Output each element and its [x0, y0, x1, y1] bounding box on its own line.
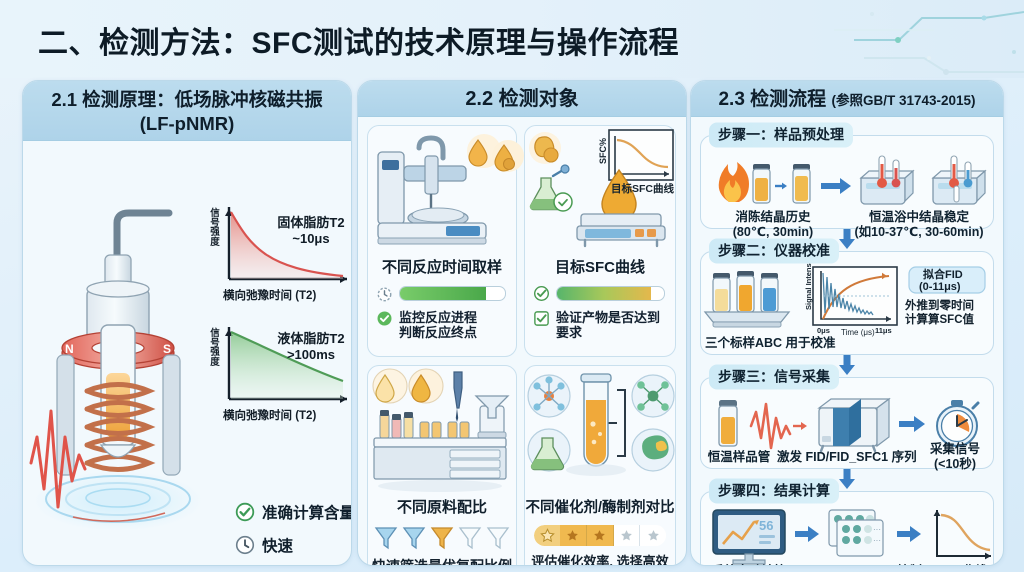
- funnel-rating: [368, 525, 516, 551]
- panel3-title-note: (参照GB/T 31743-2015): [831, 93, 975, 108]
- plot-solid-ylabel: 信号强度: [207, 209, 223, 248]
- step-1-chip: 步骤一：样品预处理: [709, 123, 853, 148]
- svg-text:计算算SFC值: 计算算SFC值: [905, 312, 974, 326]
- card-material-ratio-title: 不同原料配比: [368, 496, 516, 517]
- funnel-icon-empty: [486, 525, 510, 551]
- panel2-title: 2.2 检测对象: [465, 88, 578, 110]
- card-sampling[interactable]: 不同反应时间取样 监控反应进程 判断反应终点: [367, 125, 517, 357]
- flow-arrow-2: [838, 355, 856, 375]
- step-3[interactable]: 步骤三：信号采集: [700, 377, 994, 469]
- card-catalyst[interactable]: 不同催化剂/酶制剂对比 评估催化效率, 选择高效体系: [524, 365, 676, 566]
- funnel-icon-filled: [402, 525, 426, 551]
- star-icon-filled: [560, 525, 587, 546]
- catalyst-caption: 评估催化效率, 选择高效体系: [525, 554, 675, 566]
- step-2-illustration: Signal Intensity 0μs Time (μs) 11μs 拟合FI…: [701, 265, 995, 339]
- card-catalyst-title: 不同催化剂/酶制剂对比: [525, 496, 675, 517]
- target-sfc-status: 验证产物是否达到要求: [533, 310, 667, 341]
- plot-solid-fat: 信号强度 横向弛豫时间 (T2) 固体脂肪T2 ~10μs: [209, 203, 352, 309]
- star-icon-empty: [614, 525, 641, 546]
- panel1-title-line1: 2.1 检测原理：低场脉冲核磁共振: [31, 88, 343, 112]
- step-4-caption-3: 绘制 SFC-T曲线 (评估产物塑性): [889, 564, 995, 566]
- sampling-status-line2: 判断反应终点: [399, 325, 477, 340]
- check-circle-outline-icon: [533, 285, 550, 302]
- progress-bar-target-sfc: [556, 286, 665, 301]
- card-material-ratio[interactable]: 不同原料配比 快速筛选最优复配比例: [367, 365, 517, 566]
- progress-fill: [557, 287, 651, 300]
- stopwatch-icon: [376, 285, 393, 302]
- funnel-icon-filled: [430, 525, 454, 551]
- progress-bar-sampling: [399, 286, 506, 301]
- clock-icon: [235, 535, 255, 555]
- feature-label: 准确计算含量: [262, 501, 352, 523]
- star-rating: [534, 525, 666, 546]
- step-1-caption-2: 恒温浴中结晶稳定 (如10-37℃, 30-60min): [849, 210, 989, 240]
- step-4[interactable]: 步骤四：结果计算 56 ···: [700, 491, 994, 566]
- step-1-caption-1: 消陈结晶历史 (80℃, 30min): [719, 210, 827, 240]
- check-circle-filled-icon: [376, 310, 393, 327]
- robot-dispenser-icon: [368, 126, 518, 254]
- check-circle-icon: [235, 502, 255, 522]
- panel-detection-principle: 2.1 检测原理：低场脉冲核磁共振 (LF-pNMR): [22, 80, 352, 566]
- panel3-header: 2.3 检测流程 (参照GB/T 31743-2015): [691, 81, 1003, 117]
- material-ratio-caption: 快速筛选最优复配比例: [368, 558, 516, 566]
- step-2[interactable]: 步骤二：仪器校准: [700, 251, 994, 355]
- svg-text:(0-11μs): (0-11μs): [919, 281, 961, 293]
- step-3-chip: 步骤三：信号采集: [709, 365, 839, 390]
- plot-solid-note: 固体脂肪T2 ~10μs: [269, 215, 352, 246]
- star-icon-filled: [587, 525, 614, 546]
- flow-arrow-1: [838, 229, 856, 249]
- plot-liquid-fat: 信号强度 横向弛豫时间 (T2) 液体脂肪T2 >100ms: [209, 323, 352, 431]
- nmr-apparatus-icon: N S: [29, 205, 219, 535]
- lab-bench-icon: [368, 366, 518, 494]
- card-target-sfc[interactable]: SFC% 目标SFC曲线 目标SFC曲线 验证产物是否达到要求: [524, 125, 676, 357]
- step-2-chip: 步骤二：仪器校准: [709, 239, 839, 264]
- feature-label: 快速: [262, 534, 293, 556]
- scale-droplet-icon: SFC% 目标SFC曲线: [525, 126, 677, 254]
- plot-liquid-xlabel: 横向弛豫时间 (T2): [223, 407, 316, 423]
- plot-liquid-ylabel: 信号强度: [207, 329, 223, 368]
- card-sampling-title: 不同反应时间取样: [368, 256, 516, 277]
- step-3-caption-2: 激发 FID/FID_SFC1 序列: [777, 450, 913, 465]
- svg-text:目标SFC曲线: 目标SFC曲线: [611, 182, 674, 195]
- svg-text:拟合FID: 拟合FID: [923, 267, 963, 281]
- test-tube-icon: [525, 366, 677, 494]
- funnel-icon-filled: [374, 525, 398, 551]
- svg-text:Time (μs): Time (μs): [841, 328, 875, 337]
- progress-fill: [400, 287, 486, 300]
- checkbox-icon: [533, 310, 550, 327]
- page-title: 二、检测方法：SFC测试的技术原理与操作流程: [38, 18, 679, 62]
- panel1-header: 2.1 检测原理：低场脉冲核磁共振 (LF-pNMR): [23, 81, 351, 141]
- svg-text:S: S: [163, 342, 171, 356]
- step-4-illustration: 56 ··· ···: [701, 506, 995, 566]
- svg-text:N: N: [65, 342, 74, 356]
- svg-text:外推到零时间: 外推到零时间: [904, 298, 974, 312]
- panel2-header: 2.2 检测对象: [358, 81, 686, 117]
- plot-solid-xlabel: 横向弛豫时间 (T2): [223, 287, 316, 303]
- funnel-icon-empty: [458, 525, 482, 551]
- step-4-caption-1: 系统自动计算 SFC值: [703, 564, 795, 566]
- panel1-title-line2: (LF-pNMR): [31, 112, 343, 136]
- step-3-caption-1: 恒温样品管: [701, 450, 777, 465]
- svg-text:56: 56: [759, 518, 773, 533]
- panel-workflow: 2.3 检测流程 (参照GB/T 31743-2015) 步骤一：样品预处理: [690, 80, 1004, 566]
- feature-item: 快速: [235, 534, 352, 556]
- sampling-status-line1: 监控反应进程: [399, 310, 477, 325]
- plot-liquid-note: 液体脂肪T2 >100ms: [267, 331, 352, 362]
- svg-text:11μs: 11μs: [875, 326, 892, 335]
- step-2-caption-1: 三个标样ABC 用于校准: [705, 336, 809, 351]
- svg-text:SFC%: SFC%: [598, 138, 608, 164]
- panel-detection-object: 2.2 检测对象: [357, 80, 687, 566]
- svg-text:···: ···: [873, 525, 881, 534]
- flow-arrow-3: [838, 469, 856, 489]
- target-sfc-status-line1: 验证产物是否达到要求: [556, 310, 667, 341]
- feature-list: 准确计算含量 快速 无损 无需化学试剂: [235, 501, 352, 566]
- page-header: 二、检测方法：SFC测试的技术原理与操作流程: [0, 0, 1024, 78]
- header-decoration: [684, 0, 1024, 78]
- step-1[interactable]: 步骤一：样品预处理: [700, 135, 994, 229]
- feature-item: 准确计算含量: [235, 501, 352, 523]
- svg-text:0μs: 0μs: [817, 326, 830, 335]
- star-icon-badge: [534, 525, 560, 546]
- step-4-chip: 步骤四：结果计算: [709, 479, 839, 504]
- step-3-caption-3: 采集信号 (<10秒): [917, 442, 993, 472]
- panel3-title: 2.3 检测流程: [718, 89, 826, 110]
- sampling-status: 监控反应进程 判断反应终点: [376, 310, 508, 341]
- card-target-sfc-title: 目标SFC曲线: [525, 256, 675, 277]
- step-1-illustration: [701, 150, 995, 212]
- star-icon-empty: [640, 525, 666, 546]
- svg-text:···: ···: [873, 536, 881, 545]
